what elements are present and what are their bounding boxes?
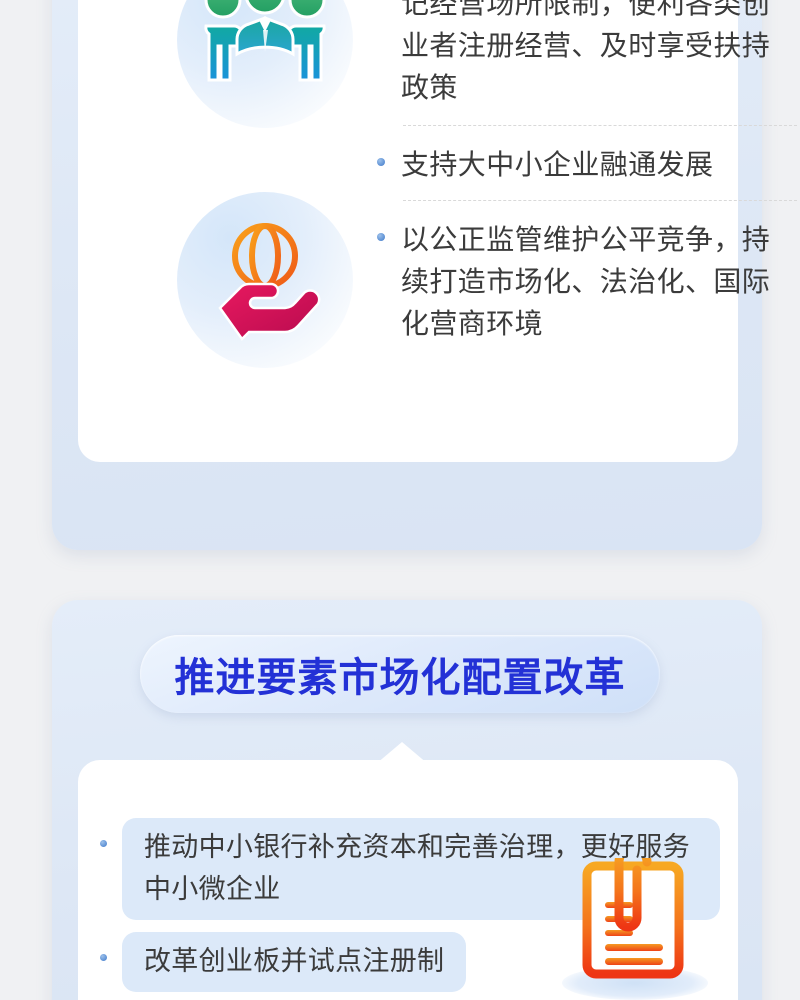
- three-people-icon: [177, 0, 353, 128]
- clipboard-paperclip-icon: [548, 858, 718, 1000]
- list-item: 支持大中小企业融通发展: [377, 144, 797, 186]
- heading-pointer-triangle: [376, 742, 428, 764]
- divider: [403, 125, 797, 126]
- list-item-text: 改革创业板并试点注册制: [122, 932, 466, 992]
- list-item: 以公正监管维护公平竞争，持续打造市场化、法治化、国际化营商环境: [377, 219, 797, 345]
- bullet-dot: [377, 233, 385, 241]
- list-item-text: 以公正监管维护公平竞争，持续打造市场化、法治化、国际化营商环境: [401, 219, 797, 345]
- list-item: 放宽小微企业、个体工商户登记经营场所限制，便利各类创业者注册经营、及时享受扶持政…: [377, 0, 797, 109]
- bullet-dot: [100, 840, 107, 847]
- page-title: 推进要素市场化配置改革: [175, 645, 626, 703]
- card-one-panel: 做到企业开办全程网上办理 放宽小微企业、个体工商户登记经营场所限制，便利各类创业…: [78, 0, 738, 462]
- infographic-page: 做到企业开办全程网上办理 放宽小微企业、个体工商户登记经营场所限制，便利各类创业…: [0, 0, 800, 1000]
- card-one-list: 做到企业开办全程网上办理 放宽小微企业、个体工商户登记经营场所限制，便利各类创业…: [377, 0, 797, 345]
- card-one-frame: 做到企业开办全程网上办理 放宽小微企业、个体工商户登记经营场所限制，便利各类创业…: [52, 0, 762, 550]
- divider: [403, 200, 797, 201]
- bullet-dot: [377, 158, 385, 166]
- globe-in-hand-icon: [177, 192, 353, 368]
- bullet-dot: [100, 954, 107, 961]
- list-item-text: 支持大中小企业融通发展: [401, 144, 713, 186]
- card-two-heading-pill: 推进要素市场化配置改革: [140, 635, 660, 713]
- list-item-text: 放宽小微企业、个体工商户登记经营场所限制，便利各类创业者注册经营、及时享受扶持政…: [401, 0, 797, 109]
